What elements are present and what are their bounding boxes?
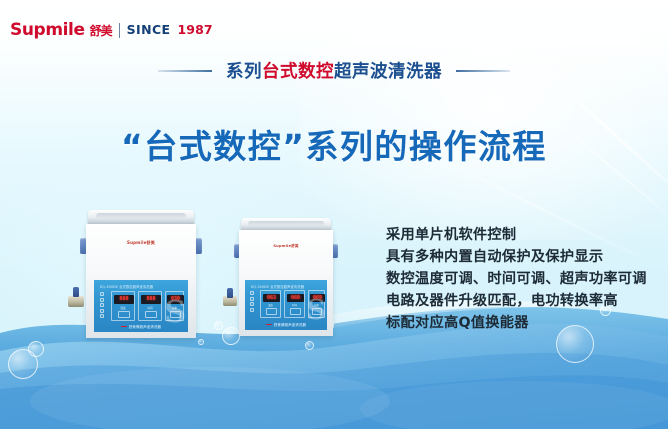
panel-key[interactable] bbox=[100, 298, 104, 302]
led-label-time: 时间 bbox=[285, 303, 304, 307]
led-value-time: 060 bbox=[291, 296, 300, 301]
drain-valve bbox=[68, 296, 84, 307]
display-group-time: 088 时间 bbox=[138, 291, 162, 321]
led-value-temperature: 060 bbox=[119, 297, 128, 302]
slide-canvas: Supmile 舒美 SINCE 1987 系列台式数控超声波清洗器 “台式数控… bbox=[0, 0, 668, 429]
panel-key[interactable] bbox=[250, 297, 254, 301]
panel-brand-dash bbox=[121, 326, 127, 328]
panel-key[interactable] bbox=[100, 309, 104, 313]
panel-keypad[interactable] bbox=[250, 291, 254, 312]
feature-item: 数控温度可调、时间可调、超声功率可调 bbox=[386, 270, 647, 289]
panel-button-temperature[interactable] bbox=[118, 311, 130, 318]
panel-model-label: KQ-300DE 台式数控超声波清洗器 bbox=[251, 284, 304, 289]
subtitle-highlight: 台式数控 bbox=[262, 62, 334, 82]
machine-handle-right bbox=[195, 238, 202, 254]
brand-logo: Supmile 舒美 SINCE 1987 bbox=[10, 22, 213, 39]
panel-key[interactable] bbox=[100, 292, 104, 296]
drain-valve-knob[interactable] bbox=[73, 287, 79, 297]
panel-key[interactable] bbox=[250, 308, 254, 312]
display-group-temperature: 063 温度 bbox=[260, 290, 281, 318]
panel-button-temperature[interactable] bbox=[266, 308, 277, 315]
machine-body: Supmile舒美 KQ-300DE 台式数控超声波清洗器 063 温度 bbox=[239, 230, 333, 336]
brand-since-label: SINCE bbox=[127, 24, 171, 37]
feature-list: 采用单片机软件控制 具有多种内置自动保护及保护显示 数控温度可调、时间可调、超声… bbox=[386, 226, 647, 333]
rule-left bbox=[158, 70, 212, 72]
panel-key[interactable] bbox=[100, 303, 104, 307]
machine-control-panel: KQ-500DE 台式数控超声波清洗器 060 温度 bbox=[94, 280, 188, 332]
panel-swoosh-decoration: S bbox=[164, 298, 186, 328]
logo-divider bbox=[119, 23, 120, 38]
panel-keypad[interactable] bbox=[100, 292, 104, 318]
led-display-temperature: 063 bbox=[263, 294, 280, 302]
led-display-time: 088 bbox=[141, 295, 161, 304]
panel-swoosh-decoration: S bbox=[307, 297, 327, 324]
machine-control-panel: KQ-300DE 台式数控超声波清洗器 063 温度 060 bbox=[245, 280, 327, 330]
led-value-time: 088 bbox=[146, 297, 155, 302]
display-group-time: 060 时间 bbox=[284, 290, 305, 318]
subtitle-suffix: 超声波清洗器 bbox=[334, 62, 442, 82]
panel-brand-label: 舒美牌超声波清洗器 bbox=[274, 322, 306, 327]
panel-brand-label: 舒美牌超声波清洗器 bbox=[129, 324, 161, 329]
feature-item: 采用单片机软件控制 bbox=[386, 226, 647, 245]
panel-model-label: KQ-500DE 台式数控超声波清洗器 bbox=[100, 284, 153, 289]
panel-key[interactable] bbox=[250, 302, 254, 306]
machine-lid-brand: Supmile舒美 bbox=[127, 240, 155, 246]
brand-wordmark-cn: 舒美 bbox=[90, 25, 112, 37]
drain-valve-knob[interactable] bbox=[227, 288, 233, 298]
subtitle-prefix: 系列 bbox=[226, 62, 262, 82]
panel-key[interactable] bbox=[100, 314, 104, 318]
panel-brand-text: 舒美牌超声波清洗器 bbox=[121, 324, 161, 329]
subtitle-text: 系列台式数控超声波清洗器 bbox=[226, 58, 442, 83]
machine-body: Supmile舒美 KQ-500DE 台式数控超声波清洗器 060 温度 bbox=[86, 224, 196, 338]
panel-brand-text: 舒美牌超声波清洗器 bbox=[266, 322, 306, 327]
brand-wordmark: Supmile bbox=[10, 22, 85, 39]
machine-left: Supmile舒美 KQ-500DE 台式数控超声波清洗器 060 温度 bbox=[84, 210, 198, 338]
led-display-time: 060 bbox=[287, 294, 304, 302]
feature-item: 标配对应高Q值换能器 bbox=[386, 314, 647, 333]
feature-item: 具有多种内置自动保护及保护显示 bbox=[386, 248, 647, 267]
display-group-temperature: 060 温度 bbox=[111, 291, 135, 321]
panel-key[interactable] bbox=[250, 291, 254, 295]
led-label-temperature: 温度 bbox=[112, 306, 134, 310]
subtitle-row: 系列台式数控超声波清洗器 bbox=[0, 58, 668, 83]
panel-button-time[interactable] bbox=[145, 311, 157, 318]
panel-button-time[interactable] bbox=[290, 308, 301, 315]
led-value-temperature: 063 bbox=[267, 296, 276, 301]
led-label-time: 时间 bbox=[139, 306, 161, 310]
led-display-temperature: 060 bbox=[114, 295, 134, 304]
machine-right: Supmile舒美 KQ-300DE 台式数控超声波清洗器 063 温度 bbox=[238, 218, 334, 336]
feature-item: 电路及器件升级匹配，电功转换率高 bbox=[386, 292, 647, 311]
led-label-temperature: 温度 bbox=[261, 303, 280, 307]
brand-since-year: 1987 bbox=[177, 24, 212, 37]
panel-brand-dash bbox=[266, 324, 272, 326]
rule-right bbox=[456, 70, 510, 72]
page-title: “台式数控”系列的操作流程 bbox=[0, 120, 668, 168]
machine-lid-brand: Supmile舒美 bbox=[273, 244, 298, 249]
